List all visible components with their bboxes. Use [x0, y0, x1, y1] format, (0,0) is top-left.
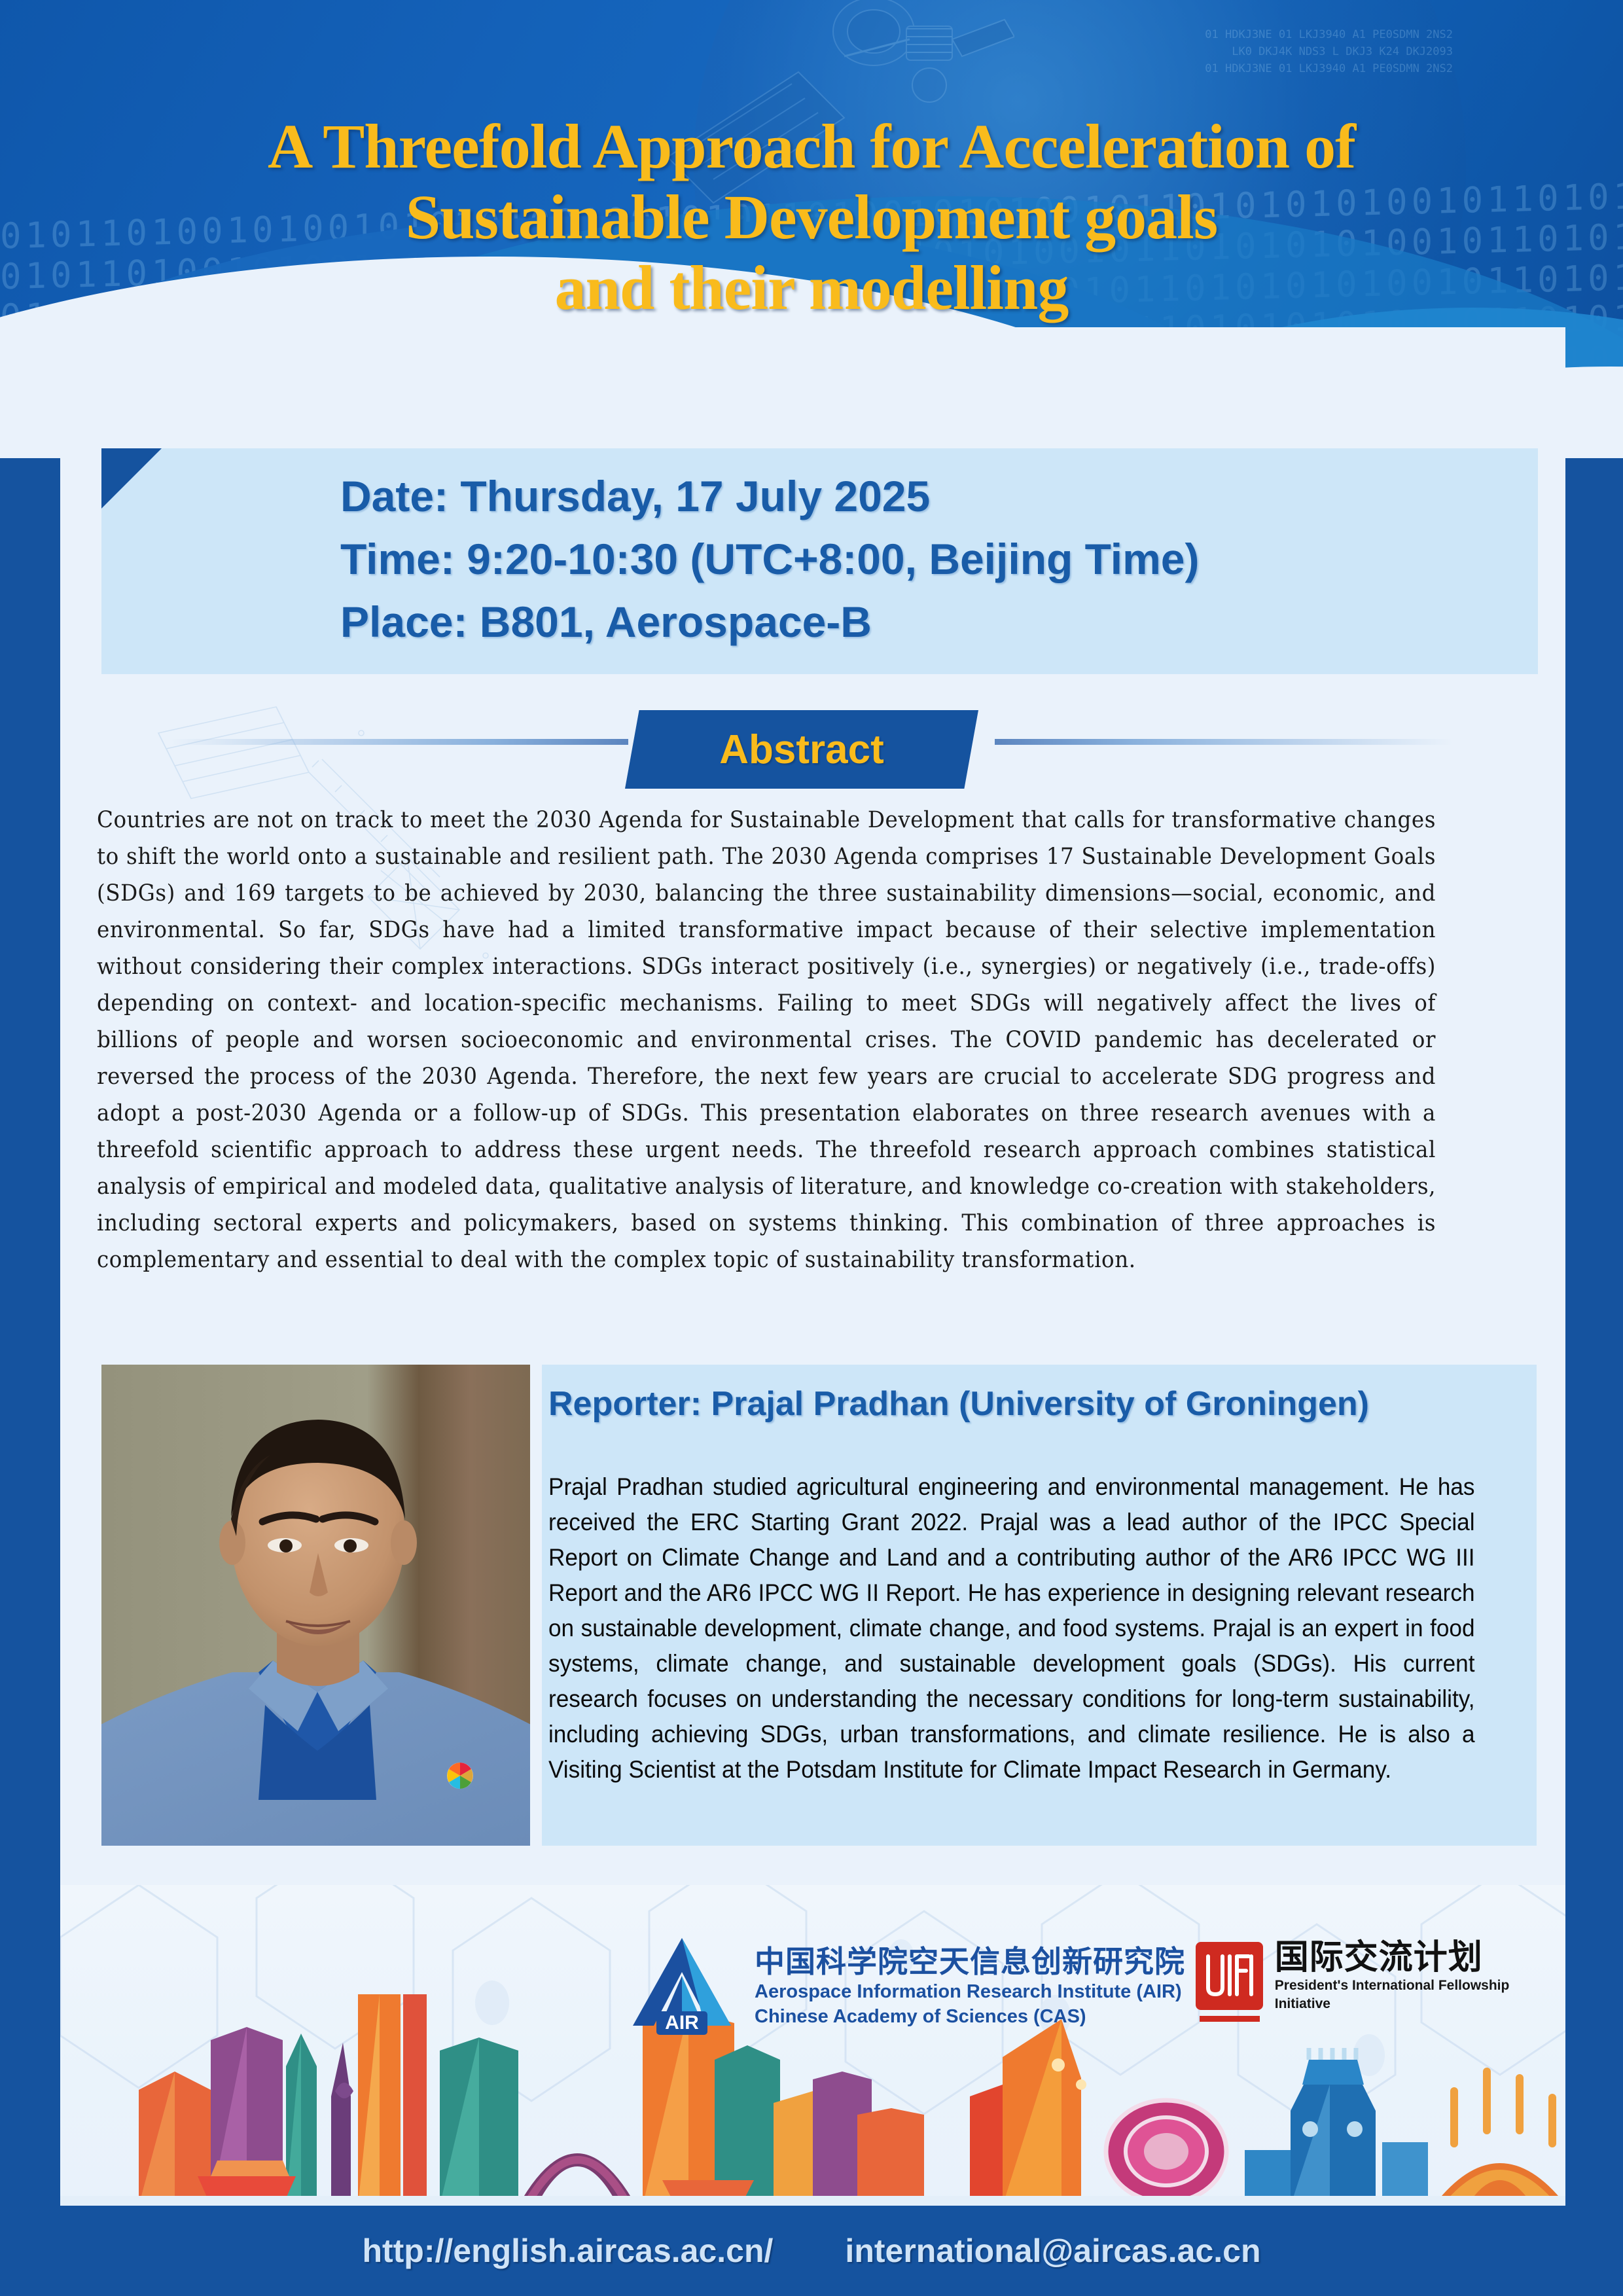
title-line-3: and their modelling — [124, 253, 1499, 323]
speaker-photo — [101, 1365, 530, 1846]
air-logo-english-2: Chinese Academy of Sciences (CAS) — [755, 2004, 1185, 2029]
air-logo-mark: AIR — [626, 1934, 738, 2039]
abstract-rule-right — [995, 739, 1453, 745]
pifi-logo-english: President's International Fellowship Ini… — [1275, 1977, 1565, 2013]
poster-title: A Threefold Approach for Acceleration of… — [124, 111, 1499, 323]
title-line-2: Sustainable Development goals — [124, 182, 1499, 253]
corner-triangle-decor — [101, 448, 162, 509]
event-time: Time: 9:20-10:30 (UTC+8:00, Beijing Time… — [340, 528, 1518, 590]
pifi-logo-mark — [1196, 1942, 1263, 2010]
abstract-badge: Abstract — [625, 710, 978, 789]
abstract-heading-row: Abstract — [0, 710, 1623, 789]
abstract-label: Abstract — [719, 726, 884, 773]
title-line-1: A Threefold Approach for Acceleration of — [124, 111, 1499, 182]
event-date: Date: Thursday, 17 July 2025 — [340, 465, 1518, 528]
reporter-bio: Prajal Pradhan studied agricultural engi… — [548, 1469, 1475, 1787]
poster-page: 01 HDKJ3NE 01 LKJ3940 A1 PE0SDMN 2NS2 LK… — [0, 0, 1623, 2296]
reporter-heading: Reporter: Prajal Pradhan (University of … — [548, 1384, 1530, 1424]
air-logo: AIR 中国科学院空天信息创新研究院 Aerospace Information… — [626, 1934, 1185, 2039]
website-link[interactable]: http://english.aircas.ac.cn/ — [362, 2232, 773, 2270]
email-link[interactable]: international@aircas.ac.cn — [845, 2232, 1260, 2270]
abstract-body: Countries are not on track to meet the 2… — [97, 802, 1436, 1278]
air-logo-chinese: 中国科学院空天信息创新研究院 — [755, 1944, 1185, 1979]
abstract-rule-left — [170, 739, 628, 745]
logo-strip: AIR 中国科学院空天信息创新研究院 Aerospace Information… — [60, 1885, 1565, 2206]
event-place: Place: B801, Aerospace-B — [340, 590, 1518, 653]
event-details-text: Date: Thursday, 17 July 2025 Time: 9:20-… — [340, 465, 1518, 653]
code-overlay: 01 HDKJ3NE 01 LKJ3940 A1 PE0SDMN 2NS2 LK… — [864, 26, 1453, 77]
svg-text:AIR: AIR — [665, 2012, 699, 2034]
pifi-logo-chinese: 国际交流计划 — [1275, 1939, 1565, 1977]
air-logo-english-1: Aerospace Information Research Institute… — [755, 1979, 1185, 2004]
pifi-logo: 国际交流计划 President's International Fellows… — [1196, 1939, 1565, 2013]
footer-bar: http://english.aircas.ac.cn/ internation… — [0, 2206, 1623, 2296]
